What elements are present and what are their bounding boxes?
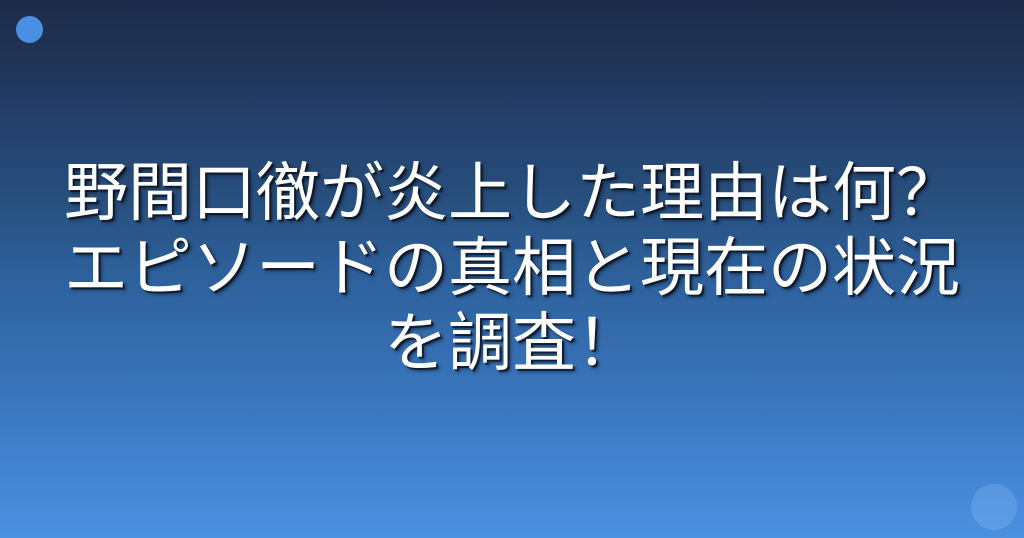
page-title: 野間口徹が炎上した理由は何？エピソードの真相と現在の状況を調査！ bbox=[32, 157, 992, 382]
title-slide: 野間口徹が炎上した理由は何？エピソードの真相と現在の状況を調査！ bbox=[0, 0, 1024, 538]
title-block: 野間口徹が炎上した理由は何？エピソードの真相と現在の状況を調査！ bbox=[0, 0, 1024, 538]
